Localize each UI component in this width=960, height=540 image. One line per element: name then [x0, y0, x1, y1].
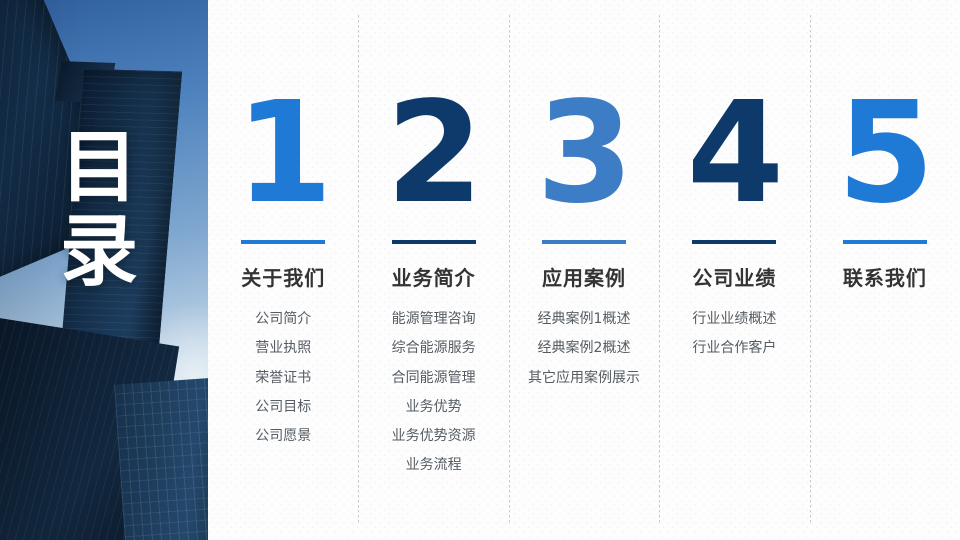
section-title-2[interactable]: 业务简介 [392, 262, 476, 291]
section-title-5[interactable]: 联系我们 [843, 262, 927, 291]
list-item[interactable]: 荣誉证书 [255, 368, 311, 388]
list-item[interactable]: 业务优势资源 [392, 426, 476, 446]
page-title-char-2: 录 [44, 210, 154, 294]
agenda-column-2[interactable]: 2 业务简介 能源管理咨询 综合能源服务 合同能源管理 业务优势 业务优势资源 … [358, 0, 508, 540]
section-item-list-2: 能源管理咨询 综合能源服务 合同能源管理 业务优势 业务优势资源 业务流程 [392, 309, 476, 476]
skyscraper-photo-panel: 目 录 [0, 0, 208, 540]
section-number-4: 4 [687, 84, 782, 224]
list-item[interactable]: 经典案例1概述 [538, 309, 631, 329]
list-item[interactable]: 业务优势 [406, 397, 462, 417]
section-item-list-4: 行业业绩概述 行业合作客户 [692, 309, 776, 359]
list-item[interactable]: 综合能源服务 [392, 338, 476, 358]
presentation-slide: 目 录 1 关于我们 公司简介 营业执照 荣誉证书 公司目标 公司愿景 2 业务… [0, 0, 960, 540]
list-item[interactable]: 行业业绩概述 [692, 309, 776, 329]
list-item[interactable]: 业务流程 [406, 455, 462, 475]
section-title-1[interactable]: 关于我们 [241, 262, 325, 291]
list-item[interactable]: 公司目标 [255, 397, 311, 417]
agenda-columns: 1 关于我们 公司简介 营业执照 荣誉证书 公司目标 公司愿景 2 业务简介 能… [208, 0, 960, 540]
section-underline-5 [843, 240, 927, 244]
section-underline-3 [542, 240, 626, 244]
list-item[interactable]: 合同能源管理 [392, 368, 476, 388]
section-number-2: 2 [386, 84, 481, 224]
section-underline-1 [241, 240, 325, 244]
list-item[interactable]: 行业合作客户 [692, 338, 776, 358]
agenda-column-3[interactable]: 3 应用案例 经典案例1概述 经典案例2概述 其它应用案例展示 [509, 0, 659, 540]
list-item[interactable]: 经典案例2概述 [538, 338, 631, 358]
agenda-column-5[interactable]: 5 联系我们 [810, 0, 960, 540]
section-underline-4 [692, 240, 776, 244]
list-item[interactable]: 公司愿景 [255, 426, 311, 446]
list-item[interactable]: 能源管理咨询 [392, 309, 476, 329]
section-title-4[interactable]: 公司业绩 [692, 262, 776, 291]
list-item[interactable]: 营业执照 [255, 338, 311, 358]
page-title-char-1: 目 [44, 126, 154, 210]
section-underline-2 [392, 240, 476, 244]
section-item-list-3: 经典案例1概述 经典案例2概述 其它应用案例展示 [528, 309, 640, 388]
agenda-column-1[interactable]: 1 关于我们 公司简介 营业执照 荣誉证书 公司目标 公司愿景 [208, 0, 358, 540]
list-item[interactable]: 其它应用案例展示 [528, 368, 640, 388]
section-item-list-1: 公司简介 营业执照 荣誉证书 公司目标 公司愿景 [255, 309, 311, 446]
agenda-column-4[interactable]: 4 公司业绩 行业业绩概述 行业合作客户 [659, 0, 809, 540]
section-number-1: 1 [235, 84, 330, 224]
list-item[interactable]: 公司简介 [255, 309, 311, 329]
section-number-3: 3 [536, 84, 631, 224]
section-title-3[interactable]: 应用案例 [542, 262, 626, 291]
page-title: 目 录 [44, 126, 154, 294]
section-number-5: 5 [837, 84, 932, 224]
